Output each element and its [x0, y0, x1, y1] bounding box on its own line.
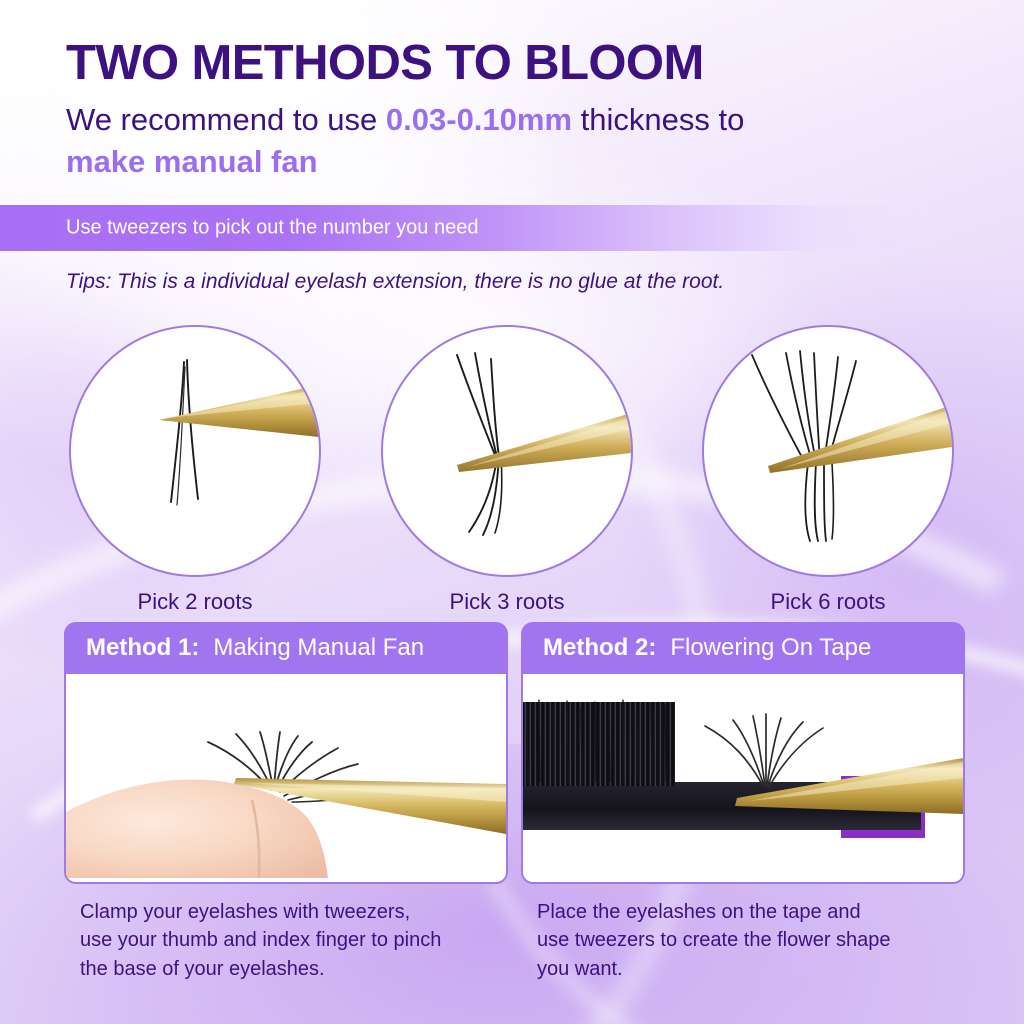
tips-text: Tips: This is a individual eyelash exten…: [66, 270, 724, 294]
pick-roots-item-3: Pick 6 roots: [697, 325, 959, 615]
pick-2-roots-photo: [69, 325, 321, 577]
method-1-header: Method 1: Making Manual Fan: [64, 622, 508, 674]
pick-2-roots-illustration: [71, 327, 319, 575]
method-2-caption-line-2: use tweezers to create the flower shape: [537, 926, 965, 954]
subtitle-line2: make manual fan: [66, 142, 966, 182]
pick-6-roots-photo: [702, 325, 954, 577]
infographic-page: TWO METHODS TO BLOOM We recommend to use…: [0, 0, 1024, 1024]
method-1-label: Method 1:: [86, 634, 199, 662]
subtitle-prefix: We recommend to use: [66, 102, 386, 137]
subtitle-accent-thickness: 0.03-0.10mm: [386, 102, 572, 137]
pick-roots-item-2: Pick 3 roots: [376, 325, 638, 615]
pick-roots-item-1: Pick 2 roots: [64, 325, 326, 615]
method-1-name: Making Manual Fan: [213, 634, 424, 662]
subtitle-suffix: thickness to: [572, 102, 744, 137]
method-2-caption-line-1: Place the eyelashes on the tape and: [537, 898, 965, 926]
method-1-illustration: [66, 674, 506, 878]
instruction-banner: Use tweezers to pick out the number you …: [0, 205, 1024, 251]
pick-roots-caption-2: Pick 3 roots: [376, 589, 638, 615]
subtitle-line1: We recommend to use 0.03-0.10mm thicknes…: [66, 100, 966, 140]
method-2-caption: Place the eyelashes on the tape and use …: [521, 898, 965, 983]
pick-6-roots-illustration: [704, 327, 952, 575]
method-1-caption-line-3: the base of your eyelashes.: [80, 955, 508, 983]
method-card-2: Method 2: Flowering On Tape: [521, 622, 965, 983]
method-1-caption: Clamp your eyelashes with tweezers, use …: [64, 898, 508, 983]
method-2-illustration: [523, 674, 963, 878]
header: TWO METHODS TO BLOOM We recommend to use…: [66, 36, 966, 181]
pick-roots-caption-1: Pick 2 roots: [64, 589, 326, 615]
pick-roots-caption-3: Pick 6 roots: [697, 589, 959, 615]
pick-3-roots-photo: [381, 325, 633, 577]
method-2-header: Method 2: Flowering On Tape: [521, 622, 965, 674]
page-title: TWO METHODS TO BLOOM: [66, 36, 966, 91]
pick-3-roots-illustration: [383, 327, 631, 575]
pick-roots-row: Pick 2 roots Pick 3 roots: [0, 325, 1024, 600]
method-2-label: Method 2:: [543, 634, 656, 662]
method-2-photo: [521, 674, 965, 884]
method-1-caption-line-1: Clamp your eyelashes with tweezers,: [80, 898, 508, 926]
method-2-name: Flowering On Tape: [670, 634, 871, 662]
method-2-caption-line-3: you want.: [537, 955, 965, 983]
method-1-caption-line-2: use your thumb and index finger to pinch: [80, 926, 508, 954]
method-card-1: Method 1: Making Manual Fan: [64, 622, 508, 983]
method-1-photo: [64, 674, 508, 884]
instruction-banner-text: Use tweezers to pick out the number you …: [66, 217, 478, 240]
